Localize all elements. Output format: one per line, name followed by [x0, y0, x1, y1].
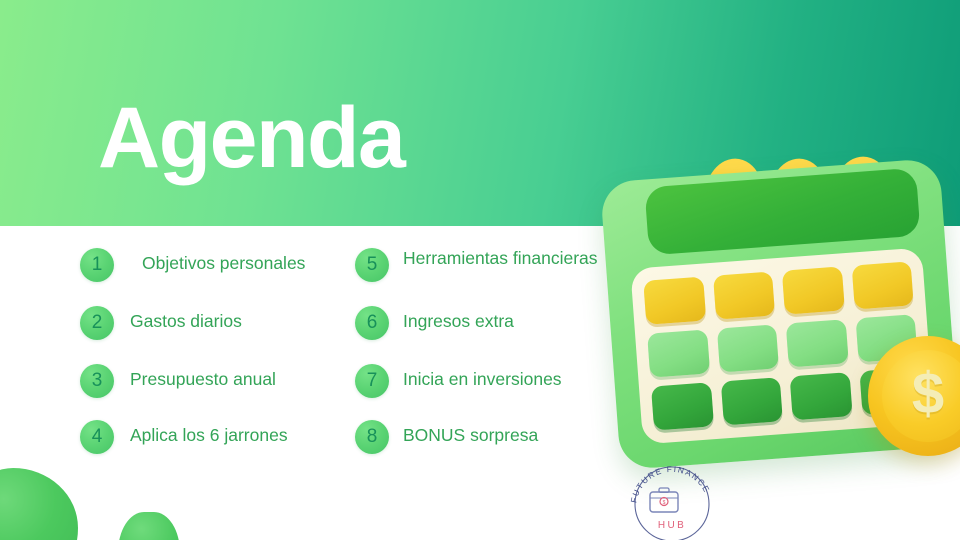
list-item[interactable]: 6 Ingresos extra [355, 306, 514, 346]
logo-bottom-text: HUB [658, 520, 686, 531]
item-label: Aplica los 6 jarrones [130, 420, 288, 446]
item-number-badge: 5 [355, 248, 389, 282]
page-title: Agenda [98, 88, 404, 188]
calendar-tile [716, 324, 779, 372]
item-label: Herramientas financieras [403, 248, 598, 269]
item-number-badge: 4 [80, 420, 114, 454]
calendar-header-bar [644, 168, 920, 256]
coin-face: $ [882, 350, 960, 442]
list-item[interactable]: 8 BONUS sorpresa [355, 420, 538, 460]
calendar-tile [720, 377, 783, 425]
item-number-badge: 6 [355, 306, 389, 340]
item-label: Objetivos personales [142, 248, 305, 274]
calendar-tile [851, 261, 914, 309]
item-number-badge: 3 [80, 364, 114, 398]
list-item[interactable]: 2 Gastos diarios [80, 306, 242, 346]
logo-badge: FUTURE FINANCE $ HUB [624, 456, 720, 540]
list-item[interactable]: 4 Aplica los 6 jarrones [80, 420, 288, 460]
item-number-badge: 7 [355, 364, 389, 398]
list-item[interactable]: 5 Herramientas financieras [355, 248, 598, 288]
list-item[interactable]: 7 Inicia en inversiones [355, 364, 562, 404]
item-number-badge: 1 [80, 248, 114, 282]
agenda-slide: Agenda 1 Objetivos personales 2 Gastos d… [0, 0, 960, 540]
item-label: Presupuesto anual [130, 364, 276, 390]
briefcase-dollar-symbol: $ [663, 500, 666, 506]
calendar-tile [713, 271, 776, 319]
item-label: Ingresos extra [403, 306, 514, 332]
calendar-tile [651, 382, 714, 430]
briefcase-icon: $ [650, 488, 678, 512]
calendar-tile [786, 319, 849, 367]
item-number-badge: 8 [355, 420, 389, 454]
calendar-tile [790, 372, 853, 420]
item-number-badge: 2 [80, 306, 114, 340]
calendar-tile [647, 329, 710, 377]
calendar-tile [782, 266, 845, 314]
list-item[interactable]: 1 Objetivos personales [80, 248, 305, 288]
item-label: Inicia en inversiones [403, 364, 562, 390]
calendar-tile [643, 277, 706, 325]
agenda-column-left: 1 Objetivos personales 2 Gastos diarios … [80, 226, 360, 540]
dollar-sign-icon: $ [912, 365, 944, 423]
agenda-column-right: 5 Herramientas financieras 6 Ingresos ex… [355, 226, 620, 540]
item-label: BONUS sorpresa [403, 420, 538, 446]
agenda-list: 1 Objetivos personales 2 Gastos diarios … [0, 226, 620, 540]
item-label: Gastos diarios [130, 306, 242, 332]
list-item[interactable]: 3 Presupuesto anual [80, 364, 276, 404]
